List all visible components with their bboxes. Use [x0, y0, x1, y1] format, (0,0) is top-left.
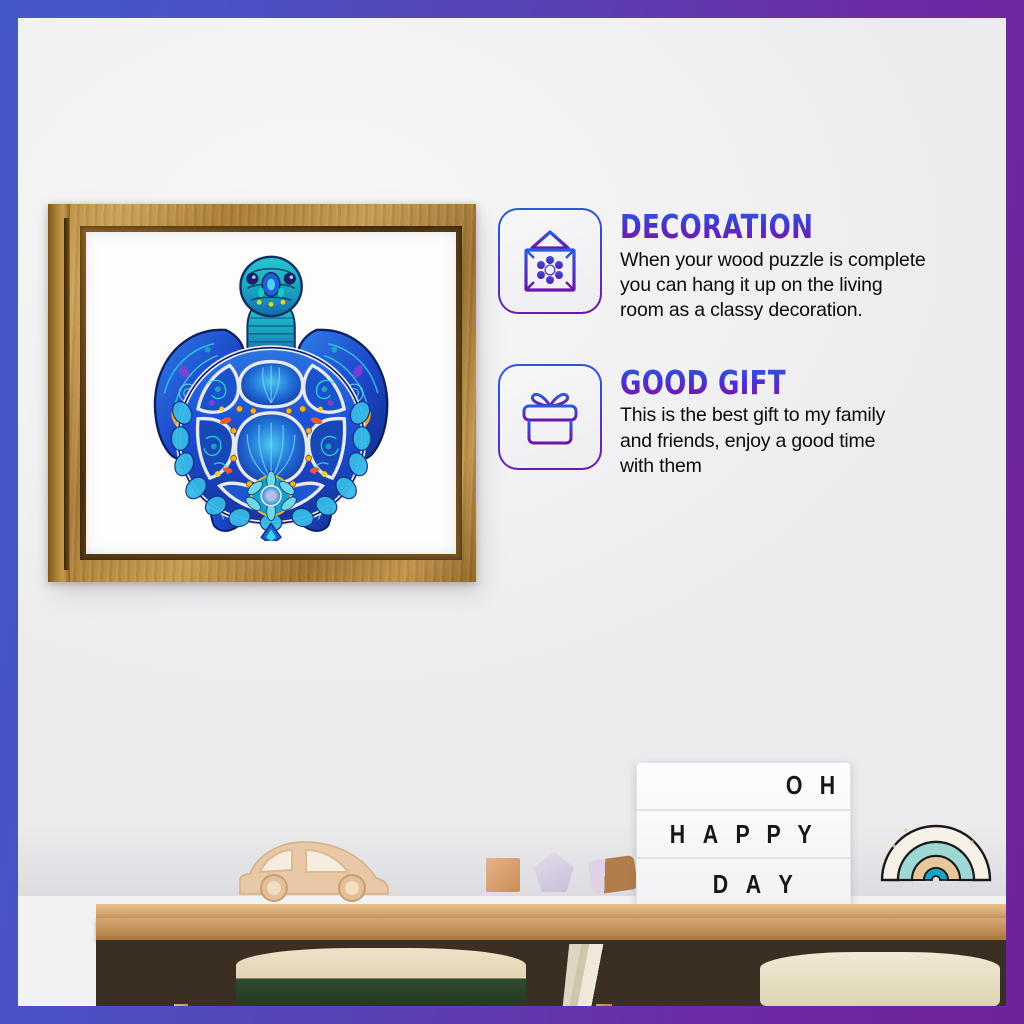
feature-body-line: When your wood puzzle is complete: [620, 248, 1006, 273]
room-scene: DECORATION When your wood puzzle is comp…: [18, 18, 1006, 1006]
feature-body: When your wood puzzle is complete you ca…: [620, 248, 1006, 324]
feature-body-line: you can hang it up on the living: [620, 273, 1006, 298]
books-stack: [563, 944, 690, 1006]
feature-body-line: and friends, enjoy a good time: [620, 429, 1006, 454]
lightbox-letter: A: [746, 871, 761, 897]
feature-body-line: with them: [620, 454, 1006, 479]
framed-picture-glyph: [518, 228, 582, 294]
feature-good-gift: GOOD GIFT This is the best gift to my fa…: [498, 364, 1006, 480]
feature-text-decoration: DECORATION When your wood puzzle is comp…: [620, 208, 1006, 324]
lightbox-letter: Y: [798, 821, 812, 847]
shelf-furniture: O H H A P P Y D A Y: [18, 876, 1006, 1006]
gift-box-glyph: [518, 386, 582, 448]
turtle-eye-right: [284, 273, 295, 284]
lightbox-letter: H: [820, 772, 835, 798]
block-pentagon: [534, 852, 574, 892]
icon-inner-surface: [500, 366, 600, 468]
lightbox-row-3: D A Y: [636, 859, 851, 908]
feature-body: This is the best gift to my family and f…: [620, 403, 1006, 479]
woven-basket-right: [760, 952, 1000, 1006]
lightbox-letter: D: [713, 871, 728, 897]
shelf-cubbies: [96, 940, 1006, 1006]
feature-title: GOOD GIFT: [620, 366, 970, 400]
icon-inner-surface: [500, 210, 600, 312]
feature-list: DECORATION When your wood puzzle is comp…: [498, 208, 1006, 519]
wooden-blocks: [486, 836, 636, 892]
wooden-toy-car: [230, 832, 398, 906]
product-infographic: DECORATION When your wood puzzle is comp…: [0, 0, 1024, 1024]
feature-decoration: DECORATION When your wood puzzle is comp…: [498, 208, 1006, 324]
lightbox-letter: O: [786, 772, 803, 798]
turtle-eye-left: [247, 273, 258, 284]
framed-turtle-artwork[interactable]: [48, 204, 476, 582]
lightbox-row-2: H A P P Y: [636, 811, 851, 860]
sea-turtle-svg: [112, 245, 430, 541]
wooden-rainbow-stacker: [876, 780, 996, 884]
shelf-surface: [96, 904, 1006, 918]
cubby-divider: [596, 1004, 612, 1006]
feature-body-line: room as a classy decoration.: [620, 298, 1006, 323]
artwork-mat: [86, 232, 456, 554]
oh-happy-day-lightbox: O H H A P P Y D A Y: [636, 762, 851, 908]
lightbox-row-1: O H: [636, 762, 851, 811]
woven-basket-left: [236, 948, 526, 1006]
feature-text-good-gift: GOOD GIFT This is the best gift to my fa…: [620, 364, 1006, 480]
feature-title: DECORATION: [620, 210, 970, 244]
gradient-border: DECORATION When your wood puzzle is comp…: [0, 0, 1024, 1024]
frame-groove: [64, 218, 69, 570]
lightbox-letter: A: [702, 821, 717, 847]
shelf-edge: [96, 918, 1006, 940]
lightbox-letter: P: [735, 821, 749, 847]
block-cylinder: [588, 855, 638, 895]
shelf-leg-left: [174, 1004, 188, 1006]
turtle-illustration: [86, 232, 456, 554]
lightbox-letter: H: [670, 821, 685, 847]
framed-picture-icon: [498, 208, 602, 314]
lightbox-letter: Y: [778, 871, 792, 897]
gift-box-icon: [498, 364, 602, 470]
lightbox-letter: P: [766, 821, 780, 847]
block-cube: [486, 858, 520, 892]
feature-body-line: This is the best gift to my family: [620, 403, 1006, 428]
